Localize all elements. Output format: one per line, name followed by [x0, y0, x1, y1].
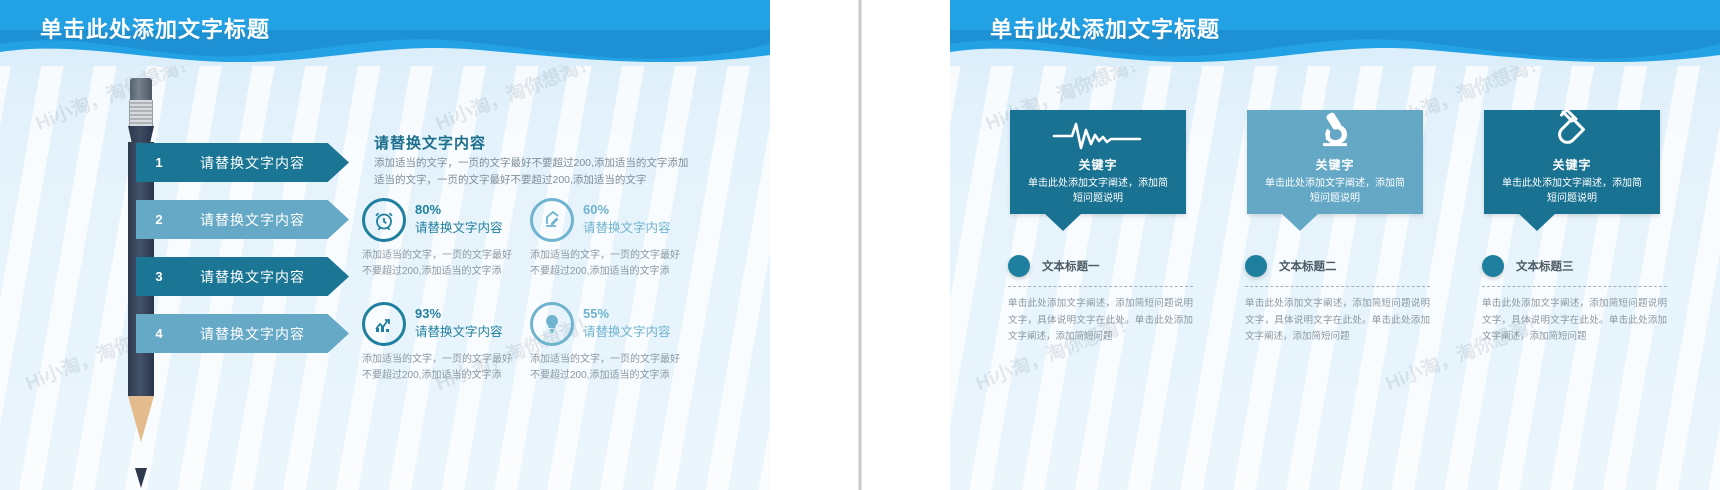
bubble-tail — [1281, 213, 1319, 231]
block-title: 文本标题一 — [1042, 258, 1100, 274]
slide-right: Hi小淘，淘你想淘！ Hi小淘，淘你想淘！ Hi小淘，淘你想淘！ Hi小淘，淘你… — [950, 0, 1720, 490]
bullet-dot-icon — [1482, 255, 1504, 277]
text-block-2[interactable]: 文本标题二 单击此处添加文字阐述，添加简短问题说明文字，具体说明文字在此处。单击… — [1245, 255, 1430, 346]
arrow-label: 请替换文字内容 — [182, 153, 349, 173]
arrow-number: 1 — [136, 155, 182, 170]
stat-item-93[interactable]: 93% 请替换文字内容 添加适当的文字，一页的文字最好不要超过200,添加适当的… — [362, 302, 522, 384]
arrow-label: 请替换文字内容 — [182, 210, 349, 230]
alarm-clock-icon — [362, 198, 406, 242]
bullet-dot-icon — [1008, 255, 1030, 277]
block-title: 文本标题三 — [1516, 258, 1574, 274]
stat-label: 请替换文字内容 — [583, 324, 671, 341]
bubble-desc: 单击此处添加文字阐述，添加简短问题说明 — [1484, 176, 1660, 206]
stat-percent: 55% — [583, 307, 671, 321]
pencil-wood — [128, 396, 154, 442]
stat-desc: 添加适当的文字，一页的文字最好不要超过200,添加适当的文字添 — [362, 248, 512, 280]
page-title: 单击此处添加文字标题 — [990, 12, 1220, 44]
text-block-1[interactable]: 文本标题一 单击此处添加文字阐述，添加简短问题说明文字，具体说明文字在此处。单击… — [1008, 255, 1193, 346]
pen-house-icon — [530, 198, 574, 242]
block-text: 单击此处添加文字阐述，添加简短问题说明文字，具体说明文字在此处。单击此处添加文字… — [1008, 296, 1193, 346]
block-text: 单击此处添加文字阐述，添加简短问题说明文字，具体说明文字在此处。单击此处添加文字… — [1245, 296, 1430, 346]
block-text: 单击此处添加文字阐述，添加简短问题说明文字，具体说明文字在此处。单击此处添加文字… — [1482, 296, 1667, 346]
column-body: 添加适当的文字，一页的文字最好不要超过200,添加适当的文字添加适当的文字，一页… — [374, 155, 690, 190]
arrow-label: 请替换文字内容 — [182, 267, 349, 287]
stat-desc: 添加适当的文字，一页的文字最好不要超过200,添加适当的文字添 — [530, 352, 680, 384]
slide-gutter — [770, 0, 950, 490]
heartbeat-icon — [1010, 110, 1186, 150]
dashed-divider — [1245, 286, 1430, 287]
arrow-item-2[interactable]: 2 请替换文字内容 — [136, 200, 349, 239]
stat-percent: 93% — [415, 307, 503, 321]
bubble-tail — [1518, 213, 1556, 231]
bubble-desc: 单击此处添加文字阐述，添加简短问题说明 — [1247, 176, 1423, 206]
stat-percent: 80% — [415, 203, 503, 217]
page-title: 单击此处添加文字标题 — [40, 12, 270, 44]
arrow-item-3[interactable]: 3 请替换文字内容 — [136, 257, 349, 296]
bubble-card-1[interactable]: 关键字 单击此处添加文字阐述，添加简短问题说明 — [1010, 110, 1186, 214]
pencil-ferrule — [129, 100, 153, 126]
bubble-card-2[interactable]: 关键字 单击此处添加文字阐述，添加简短问题说明 — [1247, 110, 1423, 214]
arrow-label: 请替换文字内容 — [182, 324, 349, 344]
pencil-tip — [128, 396, 154, 442]
text-block-3[interactable]: 文本标题三 单击此处添加文字阐述，添加简短问题说明文字，具体说明文字在此处。单击… — [1482, 255, 1667, 346]
presentation-stage: Hi小淘，淘你想淘！ Hi小淘，淘你想淘！ Hi小淘，淘你想淘！ Hi小淘，淘你… — [0, 0, 1720, 490]
stat-desc: 添加适当的文字，一页的文字最好不要超过200,添加适当的文字添 — [530, 248, 680, 280]
slide-left: Hi小淘，淘你想淘！ Hi小淘，淘你想淘！ Hi小淘，淘你想淘！ Hi小淘，淘你… — [0, 0, 770, 490]
bubble-keyword: 关键字 — [1247, 156, 1423, 173]
column-heading: 请替换文字内容 — [374, 132, 486, 153]
pencil-collar — [128, 126, 154, 142]
bubble-keyword: 关键字 — [1484, 156, 1660, 173]
test-tube-icon — [1484, 110, 1660, 150]
stat-percent: 60% — [583, 203, 671, 217]
slide-divider — [859, 0, 862, 490]
block-title: 文本标题二 — [1279, 258, 1337, 274]
growth-chart-icon — [362, 302, 406, 346]
arrow-item-1[interactable]: 1 请替换文字内容 — [136, 143, 349, 182]
bubble-card-3[interactable]: 关键字 单击此处添加文字阐述，添加简短问题说明 — [1484, 110, 1660, 214]
pencil-lead — [135, 468, 147, 488]
dashed-divider — [1008, 286, 1193, 287]
bullet-dot-icon — [1245, 255, 1267, 277]
bubble-tail — [1044, 213, 1082, 231]
dashed-divider — [1482, 286, 1667, 287]
stat-item-60[interactable]: 60% 请替换文字内容 添加适当的文字，一页的文字最好不要超过200,添加适当的… — [530, 198, 690, 280]
stat-label: 请替换文字内容 — [415, 324, 503, 341]
bubble-keyword: 关键字 — [1010, 156, 1186, 173]
arrow-number: 2 — [136, 212, 182, 227]
stat-label: 请替换文字内容 — [583, 220, 671, 237]
lightbulb-icon — [530, 302, 574, 346]
pencil-eraser — [130, 78, 152, 100]
stat-item-55[interactable]: 55% 请替换文字内容 添加适当的文字，一页的文字最好不要超过200,添加适当的… — [530, 302, 690, 384]
arrow-number: 4 — [136, 326, 182, 341]
arrow-number: 3 — [136, 269, 182, 284]
slide-background — [950, 0, 1720, 490]
stat-label: 请替换文字内容 — [415, 220, 503, 237]
arrow-item-4[interactable]: 4 请替换文字内容 — [136, 314, 349, 353]
microscope-icon — [1247, 110, 1423, 150]
stat-item-80[interactable]: 80% 请替换文字内容 添加适当的文字，一页的文字最好不要超过200,添加适当的… — [362, 198, 522, 280]
stat-desc: 添加适当的文字，一页的文字最好不要超过200,添加适当的文字添 — [362, 352, 512, 384]
bubble-desc: 单击此处添加文字阐述，添加简短问题说明 — [1010, 176, 1186, 206]
